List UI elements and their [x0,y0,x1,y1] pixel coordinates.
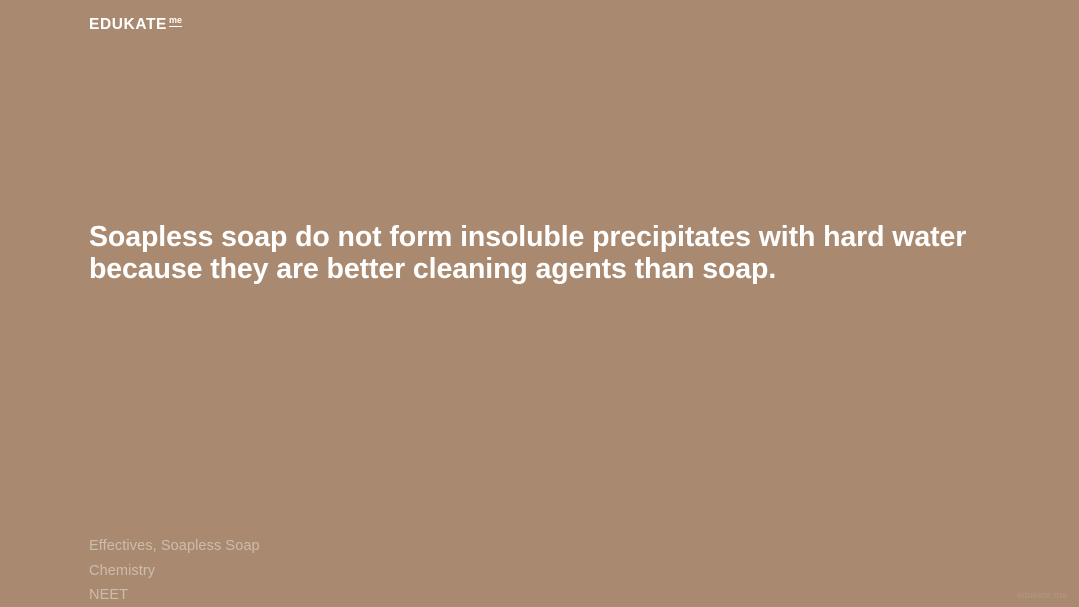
footer-topic: Effectives, Soapless Soap [89,534,260,559]
brand-logo[interactable]: EDUKATE me [89,17,182,33]
slide-footer-meta: Effectives, Soapless Soap Chemistry NEET [89,534,260,607]
footer-subject: Chemistry [89,559,260,584]
brand-logo-word: EDUKATE [89,17,167,33]
headline-line-2: because they are better cleaning agents … [89,253,989,285]
corner-watermark: edukate.me [1017,590,1067,600]
slide-headline: Soapless soap do not form insoluble prec… [89,221,989,285]
brand-logo-superscript: me [169,16,182,27]
slide-canvas: EDUKATE me Soapless soap do not form ins… [0,0,1079,607]
footer-exam: NEET [89,583,260,607]
headline-line-1: Soapless soap do not form insoluble prec… [89,221,989,253]
